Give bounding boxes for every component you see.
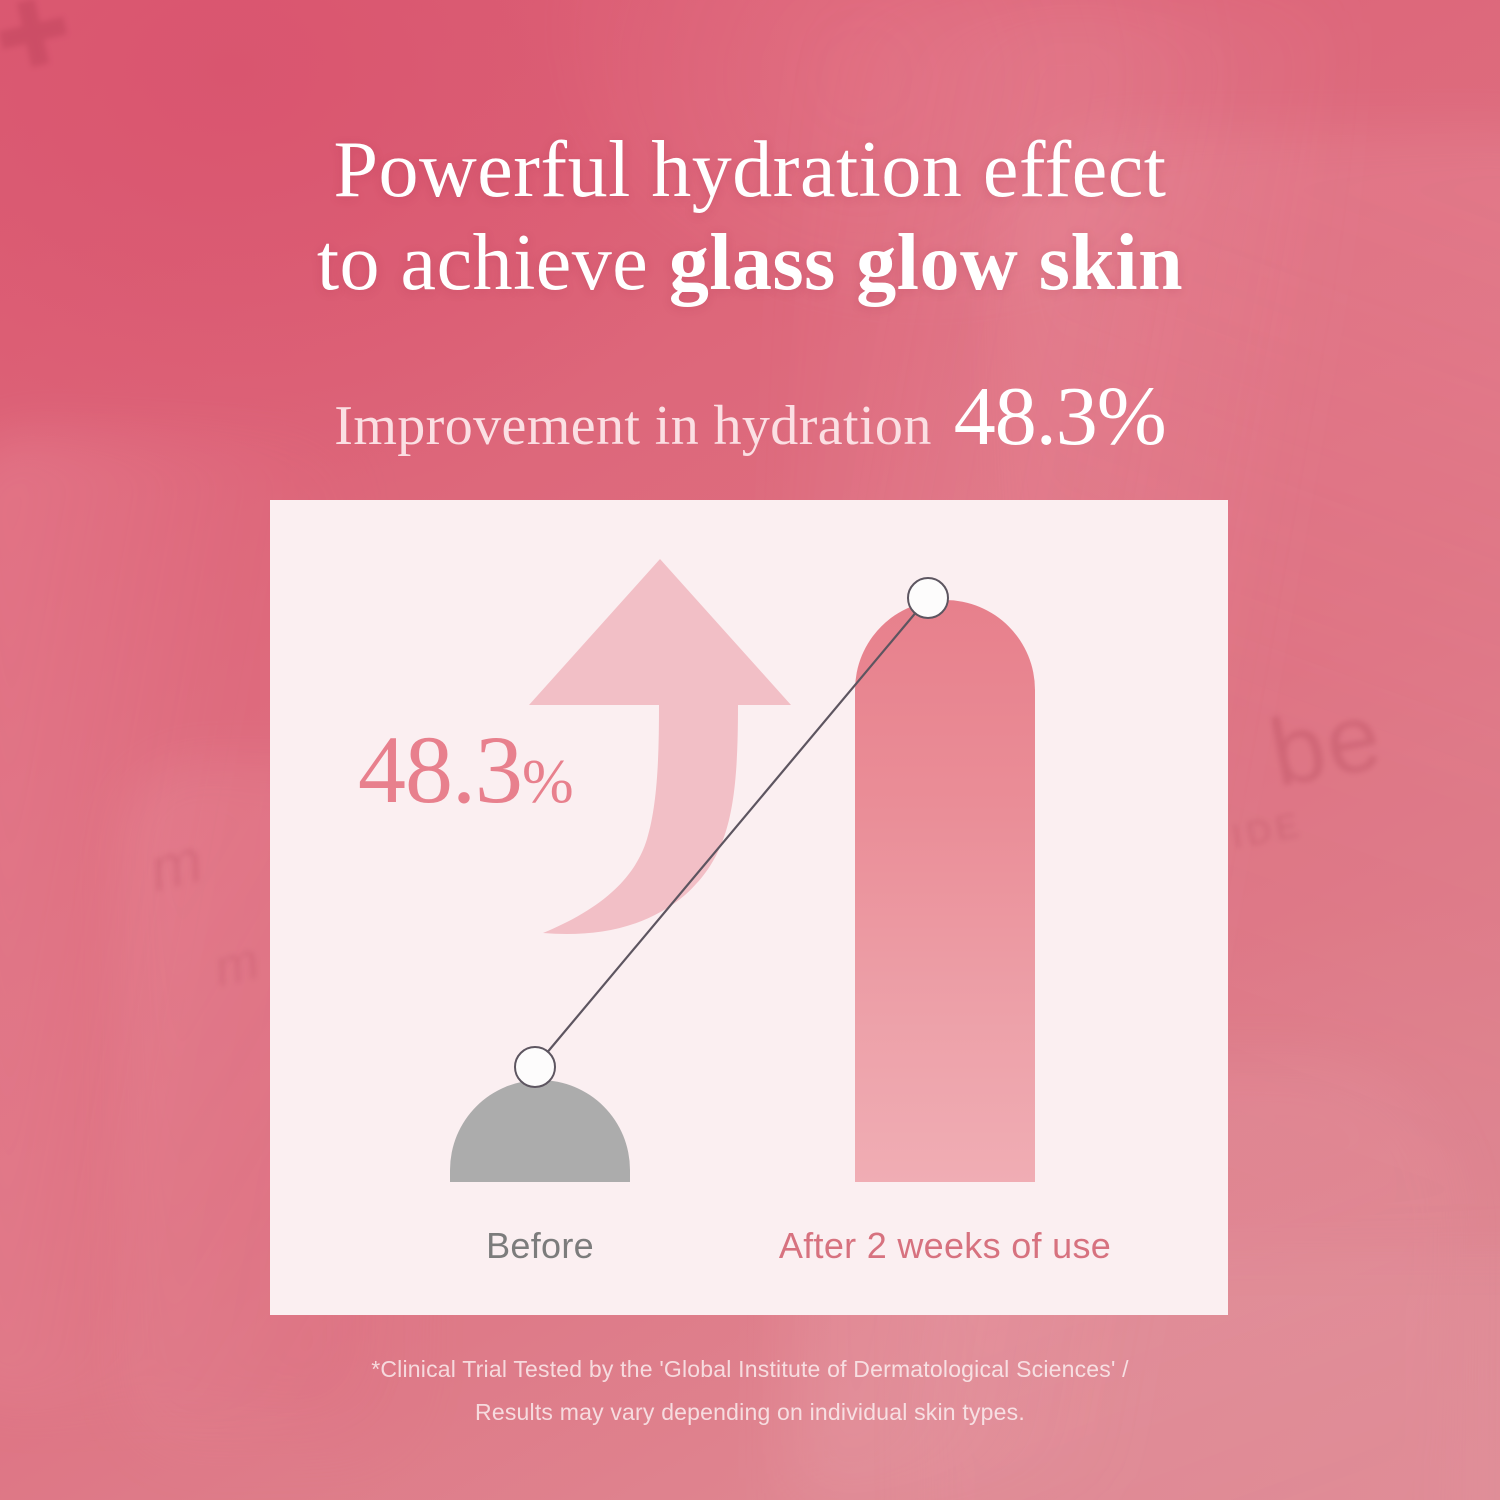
headline: Powerful hydration effect to achieve gla… (0, 124, 1500, 310)
bar-before (450, 1080, 630, 1182)
marker-before (514, 1046, 556, 1088)
headline-line-2: to achieve glass glow skin (0, 217, 1500, 310)
subheadline-label: Improvement in hydration (334, 395, 931, 457)
footnote-line-2: Results may vary depending on individual… (0, 1391, 1500, 1434)
chart-callout-unit: % (522, 748, 573, 816)
axis-label-after: After 2 weeks of use (735, 1225, 1155, 1267)
headline-line-2-prefix: to achieve (317, 219, 669, 307)
chart-callout-value: 48.3% (358, 722, 573, 818)
marker-after (907, 577, 949, 619)
poster-canvas: be IDE m m Powerful hydration effect to … (0, 0, 1500, 1500)
subheadline: Improvement in hydration48.3% (0, 368, 1500, 465)
headline-line-1: Powerful hydration effect (0, 124, 1500, 217)
footnote-line-1: *Clinical Trial Tested by the 'Global In… (0, 1348, 1500, 1391)
ghost-brand-text: be (1262, 680, 1392, 809)
footnote: *Clinical Trial Tested by the 'Global In… (0, 1348, 1500, 1433)
subheadline-value: 48.3% (954, 370, 1166, 463)
axis-label-before: Before (390, 1225, 690, 1267)
headline-emphasis: glass glow skin (669, 219, 1183, 307)
bar-after (855, 600, 1035, 1182)
chart-callout-number: 48.3 (358, 716, 522, 823)
chart-area: 48.3% Before After 2 weeks of use (270, 500, 1228, 1315)
chart-panel: 48.3% Before After 2 weeks of use (270, 500, 1228, 1315)
